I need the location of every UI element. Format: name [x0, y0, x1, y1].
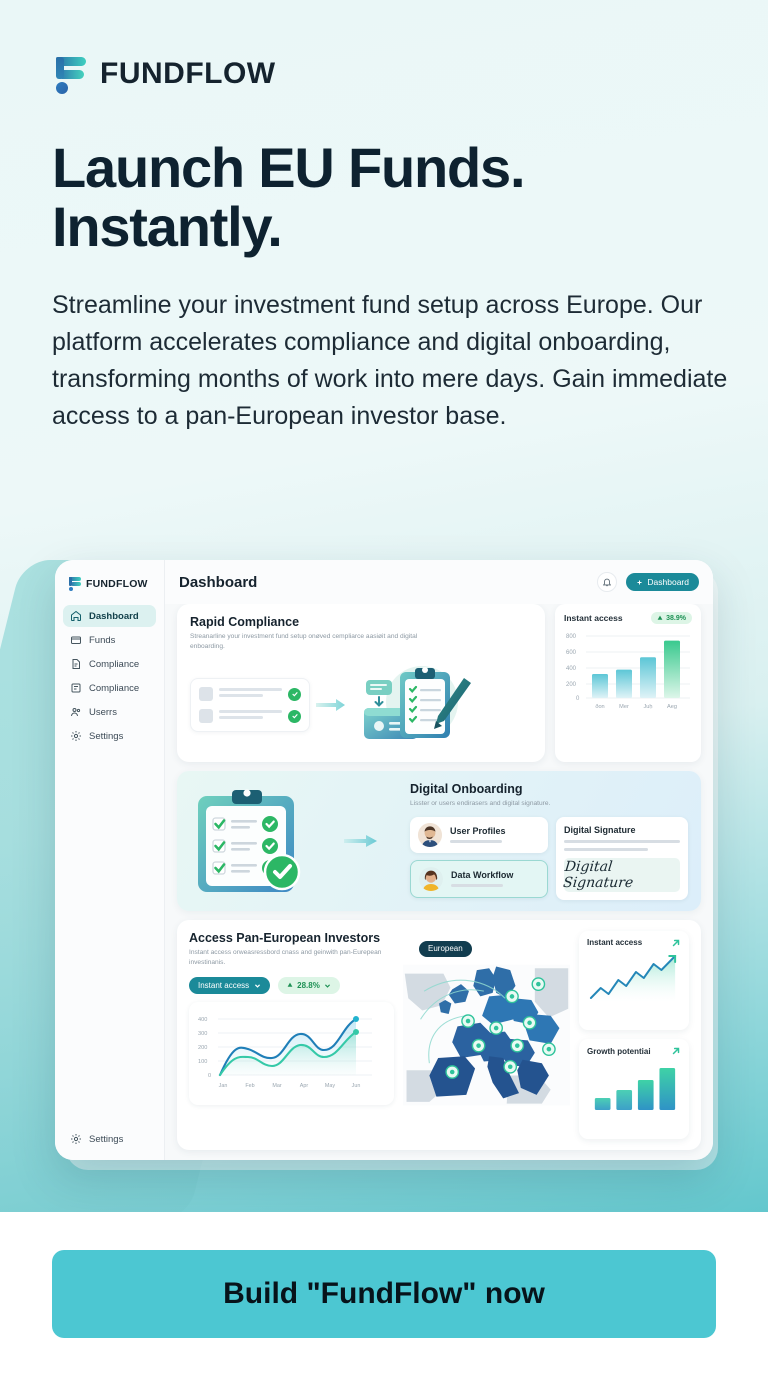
- add-dashboard-button[interactable]: Dashboard: [626, 573, 699, 591]
- document-icon: [70, 658, 82, 670]
- svg-text:400: 400: [566, 666, 577, 672]
- compliance-checklist: [190, 678, 310, 732]
- investors-subtitle: Instant access orweasressbord cnass and …: [189, 948, 394, 968]
- placeholder-line: [451, 884, 503, 887]
- page-title: Launch EU Funds. Instantly.: [52, 138, 716, 257]
- landing-page: FUNDFLOW Launch EU Funds. Instantly. Str…: [0, 0, 768, 1376]
- chevron-down-icon: [324, 982, 331, 989]
- growth-badge-value: 38.9%: [666, 615, 686, 622]
- svg-text:Mar: Mar: [272, 1083, 281, 1089]
- placeholder-square: [199, 687, 213, 701]
- gear-icon: [70, 1133, 82, 1145]
- signature-title: Digital Signature: [564, 825, 680, 835]
- mock-brand-logo: FUNDFLOW: [63, 574, 156, 605]
- signature-script: Digital Signature: [562, 859, 681, 891]
- users-icon: [70, 706, 82, 718]
- sidebar-item-label: Compliance: [89, 659, 139, 670]
- arrow-right-icon: [344, 833, 378, 849]
- sidebar-item-label: Funds: [89, 635, 115, 646]
- sidebar-item-funds[interactable]: Funds: [63, 629, 156, 651]
- onboarding-subtitle: Lisster or users endirasers and digital …: [410, 799, 640, 809]
- onboarding-title: Digital Onboarding: [410, 782, 688, 796]
- triangle-up-icon: [287, 982, 293, 988]
- headline-line-2: Instantly.: [52, 197, 716, 256]
- svg-text:300: 300: [198, 1031, 207, 1037]
- svg-text:Apr: Apr: [300, 1083, 309, 1089]
- mini-line-chart: [587, 952, 681, 1004]
- mock-page-title: Dashboard: [179, 574, 257, 591]
- rapid-compliance-section: Rapid Compliance Streanarline your inves…: [177, 604, 701, 762]
- investors-line-chart-card: 400300 2001000: [189, 1002, 394, 1105]
- onboarding-item-label: Data Workflow: [451, 870, 513, 880]
- svg-text:Juḥ: Juḥ: [643, 704, 652, 710]
- wallet-icon: [70, 634, 82, 646]
- list-item: [199, 687, 301, 701]
- rapid-compliance-title: Rapid Compliance: [190, 615, 532, 629]
- mini-card-label: Instant access: [587, 938, 642, 947]
- pan-european-investors-card: Access Pan-European Investors Instant ac…: [177, 920, 701, 1150]
- bell-icon: [602, 577, 612, 587]
- svg-text:Feb: Feb: [245, 1083, 254, 1089]
- bar-chart-title: Instant access: [564, 613, 623, 623]
- placeholder-line: [564, 840, 680, 843]
- sidebar-item-label: Settings: [89, 731, 123, 742]
- growth-badge: 38.9%: [651, 612, 692, 624]
- gear-icon: [70, 730, 82, 742]
- investors-growth-value: 28.8%: [297, 981, 320, 990]
- footer-section: Build "FundFlow" now: [0, 1212, 768, 1376]
- onboarding-item-data-workflow[interactable]: Data Workflow: [410, 860, 548, 898]
- svg-text:0: 0: [576, 696, 580, 702]
- check-circle-icon: [288, 688, 301, 701]
- hero-subcopy: Streamline your investment fund setup ac…: [52, 287, 742, 435]
- home-icon: [70, 610, 82, 622]
- check-circle-icon: [288, 710, 301, 723]
- investors-growth-badge[interactable]: 28.8%: [278, 977, 340, 994]
- svg-text:400: 400: [198, 1017, 207, 1023]
- plus-icon: [636, 579, 643, 586]
- rapid-compliance-card: Rapid Compliance Streanarline your inves…: [177, 604, 545, 762]
- svg-text:200: 200: [566, 682, 577, 688]
- signature-pad[interactable]: Digital Signature: [564, 858, 680, 892]
- sidebar-bottom-settings[interactable]: Settings: [63, 1128, 156, 1150]
- bar-chart: 800600 4002000: [564, 628, 692, 714]
- instant-access-dropdown[interactable]: Instant access: [189, 977, 270, 994]
- onboarding-item-label: User Profiles: [450, 826, 506, 836]
- map-region-pill: European: [419, 941, 472, 957]
- mock-topbar: Dashboard Dashboard: [165, 560, 713, 604]
- list-item: [199, 709, 301, 723]
- chevron-down-icon: [254, 982, 261, 989]
- sidebar-item-settings[interactable]: Settings: [63, 725, 156, 747]
- triangle-up-icon: [657, 615, 663, 621]
- onboarding-item-user-profiles[interactable]: User Profiles: [410, 817, 548, 853]
- clipboard-checklist-illustration: [190, 782, 340, 900]
- svg-text:Jan: Jan: [219, 1083, 228, 1089]
- sidebar-item-label: Compliance: [89, 683, 139, 694]
- mini-bar-chart: [587, 1060, 681, 1112]
- instant-access-bar-card: Instant access 38.9%: [555, 604, 701, 762]
- sidebar-item-compliance-1[interactable]: Compliance: [63, 653, 156, 675]
- brand-name: FUNDFLOW: [100, 57, 276, 91]
- svg-text:May: May: [325, 1083, 335, 1089]
- sidebar-bottom-label: Settings: [89, 1134, 123, 1145]
- clipboard-id-card-pen-illustration: [352, 660, 484, 751]
- fundflow-logo-icon: [68, 576, 81, 591]
- avatar-man-icon: [418, 823, 442, 847]
- svg-text:0: 0: [208, 1073, 211, 1079]
- digital-onboarding-section: Digital Onboarding Lisster or users endi…: [177, 771, 701, 911]
- svg-text:200: 200: [198, 1045, 207, 1051]
- arrow-right-icon: [316, 698, 346, 712]
- svg-text:Mer: Mer: [619, 704, 629, 710]
- sidebar-item-compliance-2[interactable]: Compliance: [63, 677, 156, 699]
- investors-title: Access Pan-European Investors: [189, 931, 394, 945]
- europe-map-icon: [403, 931, 570, 1139]
- brand-logo: FUNDFLOW: [52, 52, 716, 96]
- mock-body: Rapid Compliance Streanarline your inves…: [165, 604, 713, 1160]
- notification-button[interactable]: [597, 572, 617, 592]
- digital-signature-card: Digital Signature Digital Signature: [556, 817, 688, 900]
- list-icon: [70, 682, 82, 694]
- placeholder-line: [564, 848, 648, 851]
- mock-brand-name: FUNDFLOW: [86, 578, 148, 590]
- build-fundflow-button[interactable]: Build "FundFlow" now: [52, 1250, 716, 1338]
- growth-potential-mini-card: Growth potentiai: [579, 1039, 689, 1139]
- headline-line-1: Launch EU Funds.: [52, 138, 716, 197]
- sidebar-item-dashboard[interactable]: Dashboard: [63, 605, 156, 627]
- placeholder-square: [199, 709, 213, 723]
- placeholder-line: [450, 840, 502, 843]
- fundflow-logo-icon: [52, 55, 86, 93]
- avatar-woman-icon: [419, 867, 443, 891]
- arrow-up-right-icon: [671, 1046, 681, 1056]
- svg-text:800: 800: [566, 634, 577, 640]
- svg-text:Aeg: Aeg: [667, 704, 677, 710]
- mock-sidebar: FUNDFLOW Dashboard Funds Compliance Comp…: [55, 560, 165, 1160]
- sidebar-item-label: Dashboard: [89, 611, 139, 622]
- hero-section: FUNDFLOW Launch EU Funds. Instantly. Str…: [0, 0, 768, 1212]
- mock-main: Dashboard Dashboard: [165, 560, 713, 1160]
- arrow-up-right-icon: [671, 938, 681, 948]
- svg-text:ðon: ðon: [595, 703, 604, 710]
- mini-card-label: Growth potentiai: [587, 1047, 651, 1056]
- sidebar-item-label: Userrs: [89, 707, 117, 718]
- sidebar-item-users[interactable]: Userrs: [63, 701, 156, 723]
- rapid-compliance-subtitle: Streanarline your investment fund setup …: [190, 632, 420, 652]
- europe-map: European: [403, 931, 570, 1139]
- svg-text:Jun: Jun: [352, 1083, 361, 1089]
- instant-access-label: Instant access: [198, 981, 249, 990]
- instant-access-mini-card: Instant access: [579, 931, 689, 1031]
- add-dashboard-label: Dashboard: [647, 577, 689, 587]
- svg-text:100: 100: [198, 1059, 207, 1065]
- line-chart: 400300 2001000: [196, 1009, 374, 1093]
- dashboard-mockup: FUNDFLOW Dashboard Funds Compliance Comp…: [55, 560, 713, 1160]
- svg-text:600: 600: [566, 650, 577, 656]
